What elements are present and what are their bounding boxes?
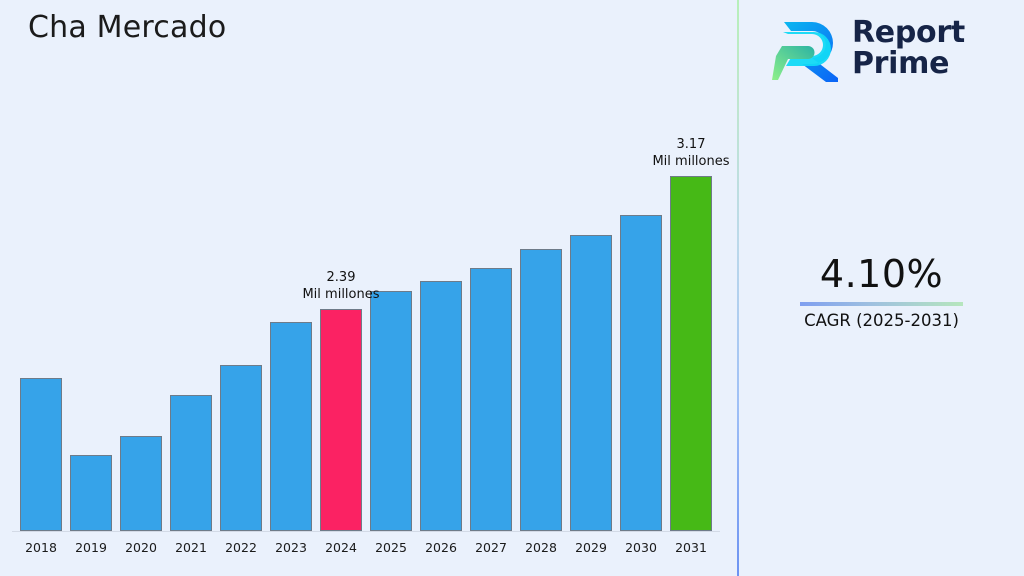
bar-chart-plot-area: 2018201920202021202220232024202520262027… — [0, 0, 738, 576]
x-tick-2025: 2025 — [365, 540, 417, 555]
annotation-unit-2024: Mil millones — [271, 286, 411, 303]
brand-logo: Report Prime — [772, 12, 965, 84]
bar-2025 — [370, 291, 412, 531]
x-tick-2018: 2018 — [15, 540, 67, 555]
x-tick-2026: 2026 — [415, 540, 467, 555]
cagr-label: CAGR (2025-2031) — [739, 311, 1024, 331]
x-tick-2029: 2029 — [565, 540, 617, 555]
bar-2026 — [420, 281, 462, 531]
cagr-divider-rule — [800, 302, 963, 306]
brand-name-line1: Report — [852, 15, 965, 50]
bar-2018 — [20, 378, 62, 531]
chart-panel: Cha Mercado 2018201920202021202220232024… — [0, 0, 738, 576]
brand-name: Report Prime — [852, 17, 965, 79]
bar-2028 — [520, 249, 562, 531]
value-annotation-2024: 2.39Mil millones — [271, 269, 411, 303]
annotation-value-2024: 2.39 — [271, 269, 411, 286]
bar-2029 — [570, 235, 612, 531]
bar-2030 — [620, 215, 662, 531]
brand-name-line2: Prime — [852, 46, 949, 81]
x-tick-2024: 2024 — [315, 540, 367, 555]
cagr-block: 4.10% CAGR (2025-2031) — [739, 252, 1024, 331]
x-tick-2031: 2031 — [665, 540, 717, 555]
bar-2022 — [220, 365, 262, 531]
x-tick-2027: 2027 — [465, 540, 517, 555]
cagr-value: 4.10% — [739, 252, 1024, 296]
report-prime-logo-icon — [772, 12, 840, 84]
summary-panel: Report Prime 4.10% CAGR (2025-2031) — [739, 0, 1024, 576]
bar-2031 — [670, 176, 712, 531]
bar-2023 — [270, 322, 312, 531]
bar-2020 — [120, 436, 162, 531]
x-tick-2030: 2030 — [615, 540, 667, 555]
x-tick-2028: 2028 — [515, 540, 567, 555]
x-tick-2020: 2020 — [115, 540, 167, 555]
x-tick-2019: 2019 — [65, 540, 117, 555]
report-slide: Cha Mercado 2018201920202021202220232024… — [0, 0, 1024, 576]
x-tick-2023: 2023 — [265, 540, 317, 555]
x-tick-2022: 2022 — [215, 540, 267, 555]
bar-2024 — [320, 309, 362, 531]
bar-2027 — [470, 268, 512, 531]
bar-2021 — [170, 395, 212, 531]
x-tick-2021: 2021 — [165, 540, 217, 555]
x-axis-line — [12, 531, 720, 532]
bar-2019 — [70, 455, 112, 531]
